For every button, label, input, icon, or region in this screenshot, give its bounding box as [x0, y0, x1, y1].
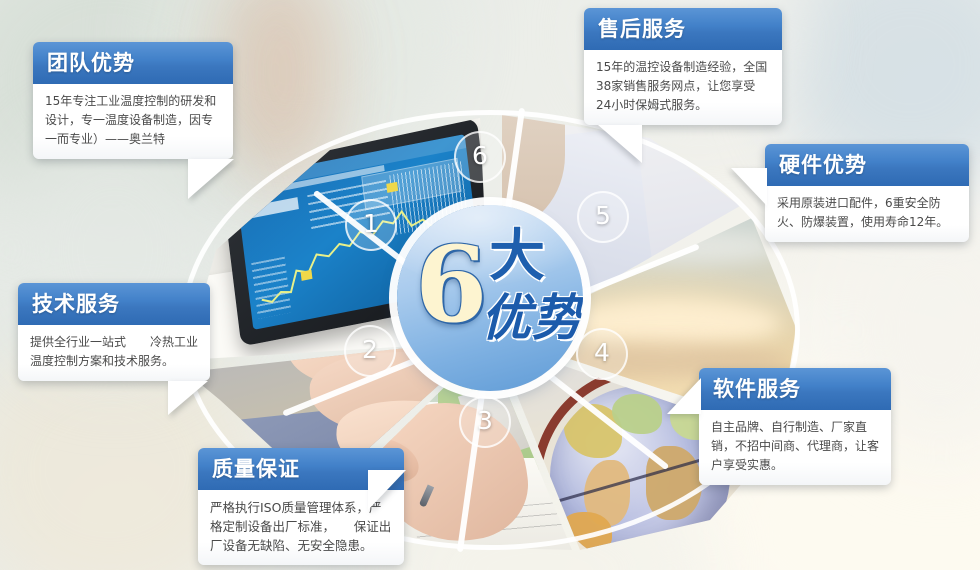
center-big-label: 大 [489, 229, 545, 285]
center-number: 6 [415, 233, 487, 337]
callout-software-service[interactable]: 软件服务 自主品牌、自行制造、厂家直销，不招中间商、代理商，让客户享受实惠。 [699, 368, 891, 485]
callout-pointer-icon [168, 381, 208, 415]
callout-body: 15年的温控设备制造经验，全国38家销售服务网点，让您享受24小时保姆式服务。 [584, 50, 782, 125]
callout-title: 售后服务 [584, 8, 782, 50]
callout-technical-service[interactable]: 技术服务 提供全行业一站式 冷热工业温度控制方案和技术服务。 [18, 283, 210, 381]
segment-number-badge-5[interactable]: 5 [577, 191, 629, 243]
segment-number-badge-2[interactable]: 2 [344, 325, 396, 377]
segment-number-badge-3[interactable]: 3 [459, 396, 511, 448]
callout-body: 自主品牌、自行制造、厂家直销，不招中间商、代理商，让客户享受实惠。 [699, 410, 891, 485]
callout-pointer-icon [368, 470, 406, 510]
callout-team-advantage[interactable]: 团队优势 15年专注工业温度控制的研发和设计，专一温度设备制造，因专一而专业）—… [33, 42, 233, 159]
callout-hardware-advantage[interactable]: 硬件优势 采用原装进口配件，6重安全防火、防爆装置，使用寿命12年。 [765, 144, 969, 242]
center-script-label: 优势 [481, 291, 583, 345]
globe-base [603, 542, 697, 550]
segment-number-badge-1[interactable]: 1 [345, 199, 397, 251]
promo-graphic-stage: 6 大 优势 1 2 3 4 5 6 团队优势 15年专注工业温度控制的研发和设… [0, 0, 980, 570]
callout-pointer-icon [667, 378, 701, 414]
segment-number-badge-4[interactable]: 4 [576, 328, 628, 380]
callout-body: 采用原装进口配件，6重安全防火、防爆装置，使用寿命12年。 [765, 186, 969, 242]
callout-title: 软件服务 [699, 368, 891, 410]
center-badge: 6 大 优势 [397, 205, 583, 391]
callout-title: 团队优势 [33, 42, 233, 84]
callout-pointer-icon [598, 125, 642, 163]
callout-title: 技术服务 [18, 283, 210, 325]
callout-after-sales-service[interactable]: 售后服务 15年的温控设备制造经验，全国38家销售服务网点，让您享受24小时保姆… [584, 8, 782, 125]
callout-body: 15年专注工业温度控制的研发和设计，专一温度设备制造，因专一而专业）——奥兰特 [33, 84, 233, 159]
callout-quality-assurance[interactable]: 质量保证 严格执行ISO质量管理体系，严格定制设备出厂标准， 保证出厂设备无缺陷… [198, 448, 404, 565]
callout-title: 硬件优势 [765, 144, 969, 186]
segment-number-badge-6[interactable]: 6 [454, 131, 506, 183]
screen-ticker-label [246, 197, 299, 219]
callout-pointer-icon [188, 159, 234, 199]
callout-pointer-icon [731, 168, 767, 206]
callout-body: 提供全行业一站式 冷热工业温度控制方案和技术服务。 [18, 325, 210, 381]
